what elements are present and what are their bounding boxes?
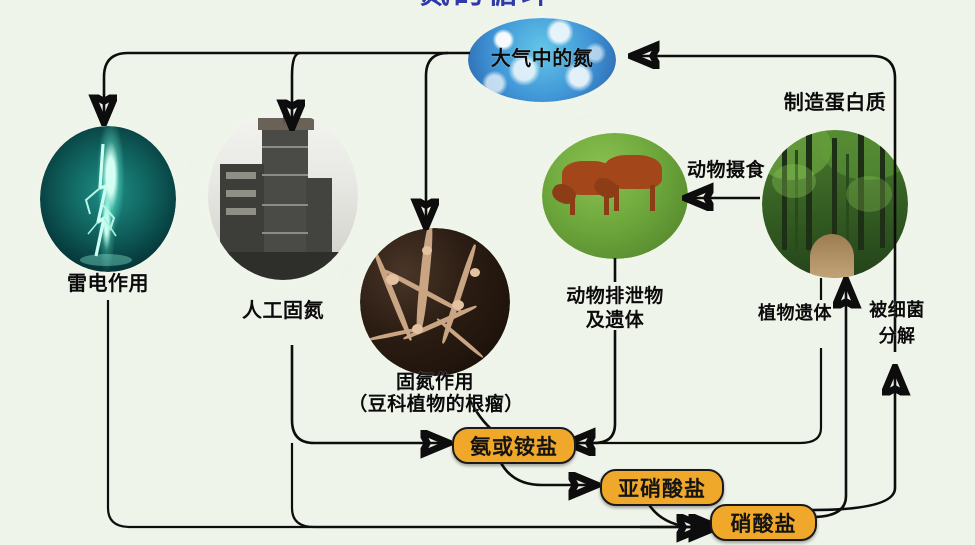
edge-label-plant-remains: 植物遗体 xyxy=(752,303,838,323)
pill-nitrite-label: 亚硝酸盐 xyxy=(618,473,706,503)
edge-label-animal-feeding: 动物摄食 xyxy=(672,160,780,181)
edge-label-bacterial-decay-line1: 被细菌 xyxy=(862,300,932,320)
edge-nitrite-to-nitrate xyxy=(648,503,700,527)
pill-ammonia-label: 氨或铵盐 xyxy=(470,431,558,461)
pill-ammonia[interactable]: 氨或铵盐 xyxy=(452,427,576,464)
edge-ammonia-to-nitrite xyxy=(500,461,592,485)
pill-nitrite[interactable]: 亚硝酸盐 xyxy=(600,469,724,506)
root-nodule-label-line2: （豆科植物的根瘤） xyxy=(330,394,542,415)
root-nodule-label-line1: 固氮作用 xyxy=(355,372,515,393)
atmosphere-label: 大气中的氮 xyxy=(468,48,616,70)
pill-nitrate-label: 硝酸盐 xyxy=(731,508,797,538)
pill-nitrate[interactable]: 硝酸盐 xyxy=(710,504,817,541)
forest-label: 制造蛋白质 xyxy=(758,92,912,114)
edge-label-bacterial-decay-line2: 分解 xyxy=(862,326,932,346)
lightning-label: 雷电作用 xyxy=(28,273,188,295)
edge-atmos-bar xyxy=(104,53,470,118)
page-title: 氮的循环 xyxy=(0,0,975,9)
edge-atmos-to-factory xyxy=(292,53,300,123)
cattle-label-line1: 动物排泄物 xyxy=(535,286,695,307)
edge-atmos-to-nodule xyxy=(426,53,448,222)
industrial-label: 人工固氮 xyxy=(203,300,363,322)
diagram-title-clipped: 氮的循环 xyxy=(0,0,975,9)
cattle-label-line2: 及遗体 xyxy=(535,310,695,331)
nitrogen-cycle-diagram: 氮的循环 xyxy=(0,0,975,545)
